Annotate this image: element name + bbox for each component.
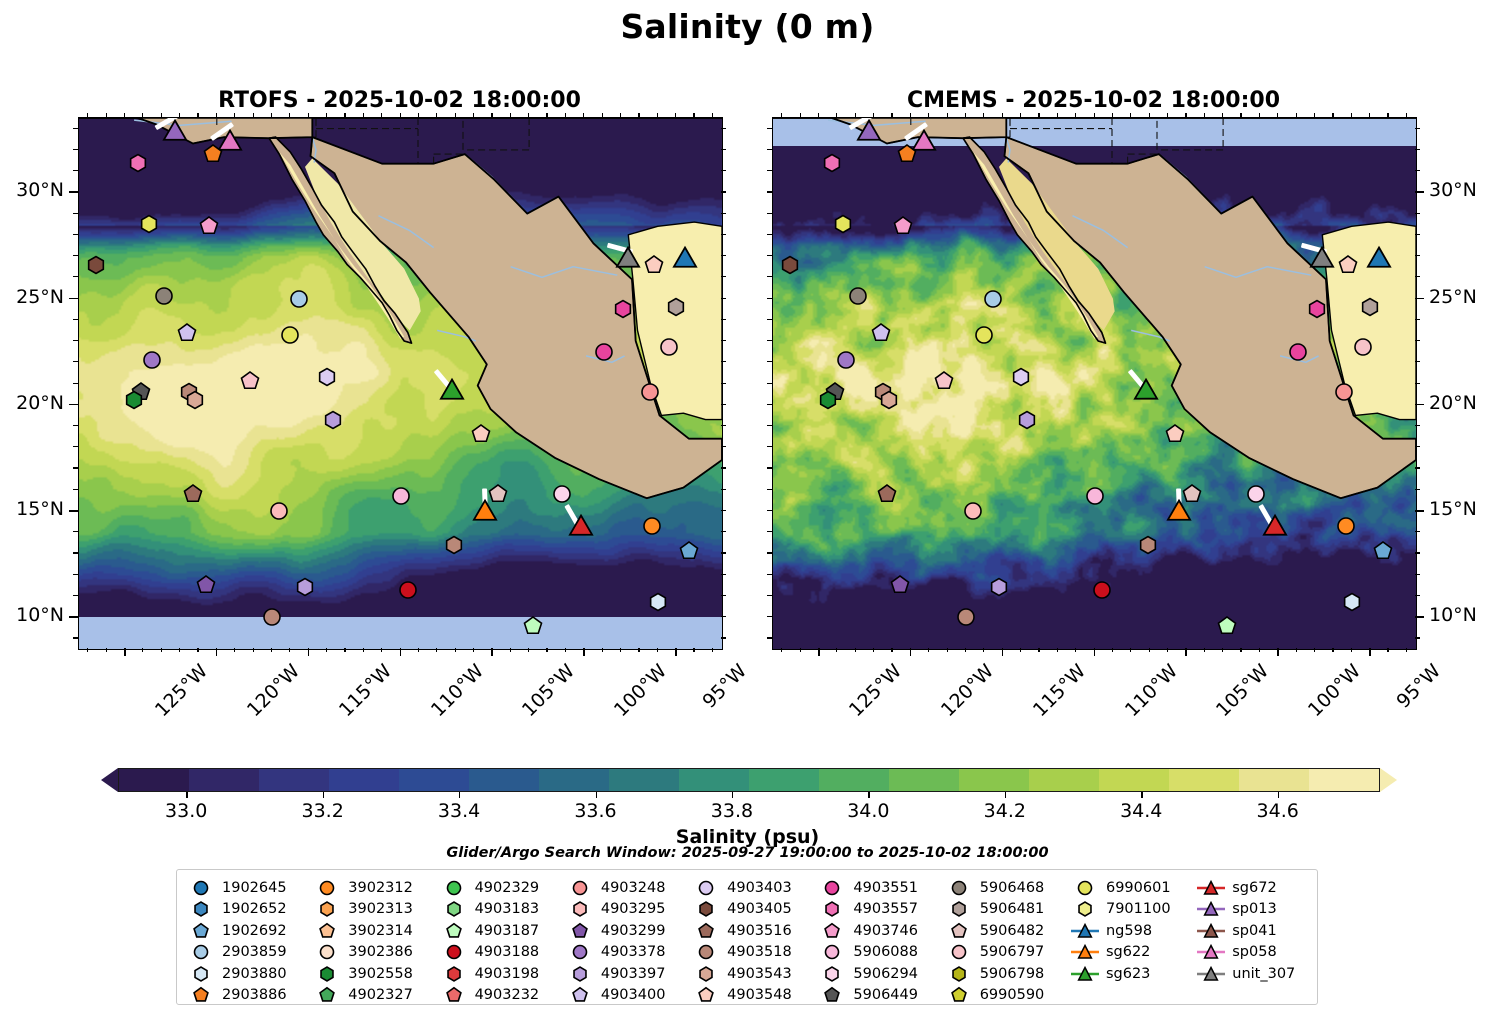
minor-tick	[721, 255, 726, 256]
platform-marker-4903187[interactable]	[1216, 615, 1238, 637]
legend-item-4903400[interactable]: 4903400	[565, 985, 678, 1007]
minor-tick	[73, 149, 78, 150]
legend-item-sg672[interactable]: sg672	[1196, 877, 1308, 899]
legend-marker-pentagon-icon	[817, 986, 847, 1004]
platform-marker-4903299[interactable]	[195, 574, 217, 596]
minor-tick	[767, 234, 772, 235]
legend-item-5906798[interactable]: 5906798	[944, 963, 1057, 985]
platform-marker-4903397b[interactable]	[988, 576, 1010, 598]
platform-marker-ng598[interactable]	[672, 245, 699, 272]
platform-marker-1902692[interactable]	[1372, 540, 1394, 562]
platform-marker-2903880[interactable]	[1341, 591, 1363, 613]
colorbar-tick	[459, 792, 460, 798]
legend-item-3902314[interactable]: 3902314	[312, 920, 425, 942]
platform-marker-5906294[interactable]	[551, 483, 573, 505]
platform-marker-5906797b[interactable]	[658, 336, 680, 358]
legend-item-4903516[interactable]: 4903516	[691, 920, 804, 942]
legend-item-3902558[interactable]: 3902558	[312, 963, 425, 985]
legend-item-3902313[interactable]: 3902313	[312, 899, 425, 921]
legend-label: 3902386	[348, 944, 413, 960]
legend-label: 4902329	[475, 880, 540, 896]
minor-tick	[1222, 648, 1223, 652]
legend-item-5906449[interactable]: 5906449	[817, 985, 930, 1007]
legend-item-4903378[interactable]: 4903378	[565, 942, 678, 964]
platform-marker-4903543[interactable]	[878, 389, 900, 411]
platform-marker-4903405[interactable]	[779, 254, 801, 276]
legend-label: 4903551	[853, 880, 918, 896]
minor-tick	[73, 425, 78, 426]
platform-marker-4903405[interactable]	[85, 254, 107, 276]
platform-marker-4903295[interactable]	[962, 500, 984, 522]
minor-tick	[73, 489, 78, 490]
legend-marker-hexagon-icon	[565, 900, 595, 918]
legend-marker-triangle-line-icon	[1070, 922, 1100, 940]
legend-item-2903886[interactable]: 2903886	[186, 985, 299, 1007]
legend-item-4903518[interactable]: 4903518	[691, 942, 804, 964]
legend-item-5906482[interactable]: 5906482	[944, 920, 1057, 942]
platform-marker-4903551b[interactable]	[593, 341, 615, 363]
lon-tick	[1277, 648, 1279, 656]
legend-label: 4903403	[727, 880, 792, 896]
legend-item-1902645[interactable]: 1902645	[186, 877, 299, 899]
platform-marker-5906481[interactable]	[1359, 296, 1381, 318]
lon-tick-label: 115°W	[1029, 660, 1090, 721]
minor-tick	[767, 213, 772, 214]
platform-marker-4903248[interactable]	[639, 381, 661, 403]
legend-item-4903183[interactable]: 4903183	[439, 899, 552, 921]
platform-marker-4903548b[interactable]	[643, 254, 665, 276]
lon-tick-label: 95°W	[1392, 660, 1445, 713]
lat-tick	[69, 616, 78, 618]
platform-marker-6990601[interactable]	[138, 213, 160, 235]
platform-marker-2903886[interactable]	[202, 143, 224, 165]
lon-tick	[675, 648, 677, 656]
platform-marker-4903403[interactable]	[316, 366, 338, 388]
minor-tick	[657, 648, 658, 652]
legend-item-4902327[interactable]: 4902327	[312, 985, 425, 1007]
lon-tick-label: 100°W	[610, 660, 671, 721]
legend-label: 5906088	[853, 944, 918, 960]
minor-tick	[1415, 149, 1420, 150]
platform-marker-4903400[interactable]	[176, 322, 198, 344]
legend-item-2903880[interactable]: 2903880	[186, 963, 299, 985]
legend-marker-triangle-line-icon	[1196, 879, 1226, 897]
legend-item-sp013[interactable]: sp013	[1196, 899, 1308, 921]
platform-marker-4903548b[interactable]	[1337, 254, 1359, 276]
legend-item-1902652[interactable]: 1902652	[186, 899, 299, 921]
minor-tick	[855, 648, 856, 652]
platform-marker-2903859[interactable]	[288, 288, 310, 310]
lat-tick-label: 15°N	[1429, 498, 1477, 520]
platform-marker-5906468[interactable]	[847, 285, 869, 307]
lon-tick-label: 115°W	[335, 660, 396, 721]
lon-tick	[308, 648, 310, 656]
lon-tick	[818, 648, 820, 656]
lon-tick-label: 110°W	[1120, 660, 1181, 721]
legend-label: 5906482	[980, 923, 1045, 939]
platform-marker-sg622[interactable]	[472, 497, 499, 524]
lat-tick-label: 30°N	[0, 179, 64, 201]
minor-tick	[73, 361, 78, 362]
legend-item-6990590[interactable]: 6990590	[944, 985, 1057, 1007]
legend-label: 4903400	[601, 987, 666, 1003]
legend-item-5906294[interactable]: 5906294	[817, 963, 930, 985]
legend-item-sp041[interactable]: sp041	[1196, 920, 1308, 942]
minor-tick	[767, 298, 772, 299]
platform-marker-5906481[interactable]	[665, 296, 687, 318]
minor-tick	[73, 213, 78, 214]
minor-tick	[721, 276, 726, 277]
legend-label: 1902652	[222, 901, 287, 917]
platform-marker-4903299[interactable]	[889, 574, 911, 596]
platform-marker-4903378[interactable]	[835, 349, 857, 371]
legend-marker-circle-icon	[439, 879, 469, 897]
minor-tick	[1314, 648, 1315, 652]
lon-tick	[216, 648, 218, 656]
minor-tick	[1415, 383, 1420, 384]
platform-marker-4903551b[interactable]	[1287, 341, 1309, 363]
platform-marker-unit_307[interactable]	[1309, 245, 1336, 272]
colorbar-band-3	[329, 769, 399, 791]
platform-marker-5906797b[interactable]	[1352, 336, 1374, 358]
colorbar-tick	[1005, 792, 1006, 798]
legend-label: 2903880	[222, 966, 287, 982]
legend-label: 4903405	[727, 901, 792, 917]
colorbar-tick-label: 33.8	[711, 800, 753, 822]
platform-marker-5906468[interactable]	[153, 285, 175, 307]
minor-tick	[767, 425, 772, 426]
platform-marker-4903187[interactable]	[522, 615, 544, 637]
legend-item-4903299[interactable]: 4903299	[565, 920, 678, 942]
legend-label: 4903188	[475, 944, 540, 960]
legend-marker-hexagon-icon	[186, 900, 216, 918]
legend-item-4903397[interactable]: 4903397	[565, 963, 678, 985]
map-axes-cmems[interactable]	[772, 117, 1417, 650]
lat-tick-label: 20°N	[0, 392, 64, 414]
lat-tick-label: 15°N	[0, 498, 64, 520]
platform-marker-5906088[interactable]	[390, 485, 412, 507]
legend-label: 5906481	[980, 901, 1045, 917]
minor-tick	[1415, 446, 1420, 447]
legend-label: 4903295	[601, 901, 666, 917]
minor-tick	[73, 637, 78, 638]
legend-marker-circle-icon	[691, 943, 721, 961]
platform-marker-4903518c[interactable]	[955, 606, 977, 628]
minor-tick	[1351, 648, 1352, 652]
search-window-text: Glider/Argo Search Window: 2025-09-27 19…	[0, 845, 1495, 861]
platform-marker-4903295[interactable]	[268, 500, 290, 522]
minor-tick	[1415, 637, 1420, 638]
platform-marker-5906088[interactable]	[1084, 485, 1106, 507]
legend-label: 4903557	[853, 901, 918, 917]
colorbar-tick	[596, 792, 597, 798]
platform-marker-unit_307[interactable]	[615, 245, 642, 272]
legend-item-4903551[interactable]: 4903551	[817, 877, 930, 899]
lon-tick	[1094, 648, 1096, 656]
colorbar-band-2	[259, 769, 329, 791]
minor-tick	[836, 648, 837, 652]
colorbar-band-14	[1099, 769, 1169, 791]
legend-label: 4903746	[853, 923, 918, 939]
platform-marker-4903400[interactable]	[870, 322, 892, 344]
minor-tick	[1387, 648, 1388, 652]
minor-tick	[767, 361, 772, 362]
platform-marker-3902558[interactable]	[123, 389, 145, 411]
minor-tick	[767, 510, 772, 511]
platform-marker-5906294[interactable]	[1245, 483, 1267, 505]
platform-marker-3902312[interactable]	[641, 515, 663, 537]
legend-item-3902386[interactable]: 3902386	[312, 942, 425, 964]
platform-marker-4903516[interactable]	[876, 483, 898, 505]
legend-marker-hexagon-icon	[186, 965, 216, 983]
minor-tick	[73, 319, 78, 320]
platform-marker-4903378[interactable]	[141, 349, 163, 371]
lat-tick-label: 10°N	[0, 604, 64, 626]
legend-label: 3902312	[348, 880, 413, 896]
legend-item-5906088[interactable]: 5906088	[817, 942, 930, 964]
minor-tick	[197, 648, 198, 652]
platform-marker-sg623[interactable]	[1132, 376, 1159, 403]
minor-tick	[271, 648, 272, 652]
minor-tick	[418, 648, 419, 652]
legend-item-4903746[interactable]: 4903746	[817, 920, 930, 942]
minor-tick	[767, 616, 772, 617]
minor-tick	[1020, 648, 1021, 652]
platform-marker-4903551[interactable]	[1306, 298, 1328, 320]
platform-marker-6990601[interactable]	[832, 213, 854, 235]
legend-item-5906797[interactable]: 5906797	[944, 942, 1057, 964]
platform-marker-6990601b[interactable]	[973, 324, 995, 346]
minor-tick	[1296, 648, 1297, 652]
colorbar: 33.033.233.433.633.834.034.234.434.6 Sal…	[0, 0, 1495, 120]
colorbar-band-11	[889, 769, 959, 791]
platform-marker-4903548[interactable]	[470, 423, 492, 445]
minor-tick	[947, 648, 948, 652]
platform-marker-4903518c[interactable]	[261, 606, 283, 628]
legend-item-6990601[interactable]: 6990601	[1070, 877, 1183, 899]
legend-item-3902312[interactable]: 3902312	[312, 877, 425, 899]
platform-marker-4903403[interactable]	[1010, 366, 1032, 388]
legend-item-4903295[interactable]: 4903295	[565, 899, 678, 921]
platform-marker-5906797[interactable]	[933, 370, 955, 392]
minor-tick	[721, 637, 726, 638]
legend-item-1902692[interactable]: 1902692	[186, 920, 299, 942]
minor-tick	[73, 383, 78, 384]
legend-marker-circle-icon	[817, 943, 847, 961]
platform-marker-2903859[interactable]	[982, 288, 1004, 310]
legend-item-7901100[interactable]: 7901100	[1070, 899, 1183, 921]
colorbar-tick	[1278, 792, 1279, 798]
platform-marker-6990601b[interactable]	[279, 324, 301, 346]
colorbar-band-15	[1169, 769, 1239, 791]
colorbar-tick-label: 34.2	[984, 800, 1026, 822]
platform-marker-sg672[interactable]	[1261, 512, 1288, 539]
legend-label: 5906468	[980, 880, 1045, 896]
minor-tick	[721, 128, 726, 129]
platform-marker-ng598[interactable]	[1366, 245, 1393, 272]
platform-marker-4903397[interactable]	[322, 409, 344, 431]
legend-item-unit_307[interactable]: unit_307	[1196, 963, 1308, 985]
minor-tick	[73, 340, 78, 341]
legend-item-4903543[interactable]: 4903543	[691, 963, 804, 985]
legend-label: 4903518	[727, 944, 792, 960]
platform-marker-4903518b[interactable]	[443, 534, 465, 556]
platform-marker-4903551[interactable]	[612, 298, 634, 320]
legend-label: 3902558	[348, 966, 413, 982]
platform-marker-sg622[interactable]	[1166, 497, 1193, 524]
colorbar-tick-label: 34.6	[1257, 800, 1299, 822]
minor-tick	[1415, 574, 1420, 575]
legend-marker-pentagon-icon	[439, 922, 469, 940]
lon-tick	[583, 648, 585, 656]
legend-item-4903557[interactable]: 4903557	[817, 899, 930, 921]
minor-tick	[721, 531, 726, 532]
colorbar-tick	[186, 792, 187, 798]
legend-item-4903198[interactable]: 4903198	[439, 963, 552, 985]
platform-marker-1902692[interactable]	[678, 540, 700, 562]
legend-marker-hexagon-icon	[944, 965, 974, 983]
minor-tick	[1415, 276, 1420, 277]
platform-marker-4903557[interactable]	[127, 152, 149, 174]
lon-tick-label: 100°W	[1304, 660, 1365, 721]
colorbar-band-12	[959, 769, 1029, 791]
legend-item-4903187[interactable]: 4903187	[439, 920, 552, 942]
colorbar-tick	[323, 792, 324, 798]
legend-label: 4903548	[727, 987, 792, 1003]
legend-item-4903188[interactable]: 4903188	[439, 942, 552, 964]
legend-marker-circle-icon	[312, 943, 342, 961]
minor-tick	[73, 531, 78, 532]
minor-tick	[1415, 319, 1420, 320]
legend-item-4903248[interactable]: 4903248	[565, 877, 678, 899]
legend-item-ng598[interactable]: ng598	[1070, 920, 1183, 942]
legend-label: 5906797	[980, 944, 1045, 960]
legend-marker-hexagon-icon	[944, 900, 974, 918]
minor-tick	[767, 637, 772, 638]
minor-tick	[873, 648, 874, 652]
minor-tick	[1415, 340, 1420, 341]
colorbar-tick-label: 33.6	[574, 800, 616, 822]
minor-tick	[1415, 425, 1420, 426]
minor-tick	[1415, 467, 1420, 468]
platform-marker-4903188[interactable]	[1091, 579, 1113, 601]
minor-tick	[767, 276, 772, 277]
legend-item-5906468[interactable]: 5906468	[944, 877, 1057, 899]
minor-tick	[1415, 361, 1420, 362]
platform-marker-4903746[interactable]	[892, 215, 914, 237]
legend-item-4903548[interactable]: 4903548	[691, 985, 804, 1007]
legend-item-5906481[interactable]: 5906481	[944, 899, 1057, 921]
legend-item-sg622[interactable]: sg622	[1070, 942, 1183, 964]
platform-marker-2903886[interactable]	[896, 143, 918, 165]
platform-marker-sp013[interactable]	[855, 117, 882, 144]
platform-marker-4903548[interactable]	[1164, 423, 1186, 445]
minor-tick	[721, 616, 726, 617]
minor-tick	[73, 128, 78, 129]
legend-marker-triangle-line-icon	[1070, 965, 1100, 983]
platform-marker-4903518b[interactable]	[1137, 534, 1159, 556]
minor-tick	[891, 648, 892, 652]
lon-tick	[910, 648, 912, 656]
minor-tick	[73, 574, 78, 575]
platform-marker-3902312[interactable]	[1335, 515, 1357, 537]
legend-item-2903859[interactable]: 2903859	[186, 942, 299, 964]
minor-tick	[721, 170, 726, 171]
platform-marker-4903746[interactable]	[198, 215, 220, 237]
minor-tick	[693, 648, 694, 652]
platform-marker-2903880[interactable]	[647, 591, 669, 613]
platform-marker-sg623[interactable]	[438, 376, 465, 403]
platform-marker-4903516[interactable]	[182, 483, 204, 505]
legend-label: 6990601	[1106, 880, 1171, 896]
minor-tick	[1149, 648, 1150, 652]
legend-item-4903232[interactable]: 4903232	[439, 985, 552, 1007]
map-axes-rtofs[interactable]	[78, 117, 723, 650]
platform-marker-4903397b[interactable]	[294, 576, 316, 598]
minor-tick	[253, 648, 254, 652]
platform-marker-4903188[interactable]	[397, 579, 419, 601]
minor-tick	[721, 510, 726, 511]
minor-tick	[1406, 648, 1407, 652]
colorbar-tick	[732, 792, 733, 798]
minor-tick	[767, 595, 772, 596]
legend-marker-pentagon-icon	[186, 986, 216, 1004]
minor-tick	[73, 552, 78, 553]
lon-tick	[124, 648, 126, 656]
colorbar-tick	[1141, 792, 1142, 798]
colorbar-band-16	[1239, 769, 1309, 791]
legend-item-4903403[interactable]: 4903403	[691, 877, 804, 899]
legend-label: sp058	[1232, 944, 1276, 960]
minor-tick	[721, 213, 726, 214]
legend-label: 3902313	[348, 901, 413, 917]
minor-tick	[73, 446, 78, 447]
platform-marker-4903543[interactable]	[184, 389, 206, 411]
lon-tick	[491, 648, 493, 656]
legend-marker-hexagon-icon	[439, 900, 469, 918]
lat-tick-label: 10°N	[1429, 604, 1477, 626]
colorbar-extend-left	[101, 768, 118, 792]
legend-label: sp041	[1232, 923, 1276, 939]
platform-marker-sp013[interactable]	[161, 117, 188, 144]
minor-tick	[721, 191, 726, 192]
legend-marker-hexagon-icon	[1070, 900, 1100, 918]
colorbar-band-7	[609, 769, 679, 791]
platform-marker-4903397[interactable]	[1016, 409, 1038, 431]
legend-item-4903405[interactable]: 4903405	[691, 899, 804, 921]
minor-tick	[721, 425, 726, 426]
platform-marker-4903248[interactable]	[1333, 381, 1355, 403]
legend-marker-circle-icon	[186, 943, 216, 961]
platform-marker-5906797[interactable]	[239, 370, 261, 392]
lat-tick	[1415, 616, 1424, 618]
colorbar-band-8	[679, 769, 749, 791]
platform-marker-3902558[interactable]	[817, 389, 839, 411]
legend-label: 7901100	[1106, 901, 1171, 917]
legend-label: sp013	[1232, 901, 1276, 917]
colorbar-tick-label: 34.4	[1120, 800, 1162, 822]
platform-marker-4903557[interactable]	[821, 152, 843, 174]
legend-marker-circle-icon	[1070, 879, 1100, 897]
legend-item-4902329[interactable]: 4902329	[439, 877, 552, 899]
platform-marker-sg672[interactable]	[567, 512, 594, 539]
legend-item-sg623[interactable]: sg623	[1070, 963, 1183, 985]
colorbar-band-4	[399, 769, 469, 791]
legend-item-sp058[interactable]: sp058	[1196, 942, 1308, 964]
minor-tick	[767, 531, 772, 532]
legend-label: 6990590	[980, 987, 1045, 1003]
legend-label: 4903248	[601, 880, 666, 896]
